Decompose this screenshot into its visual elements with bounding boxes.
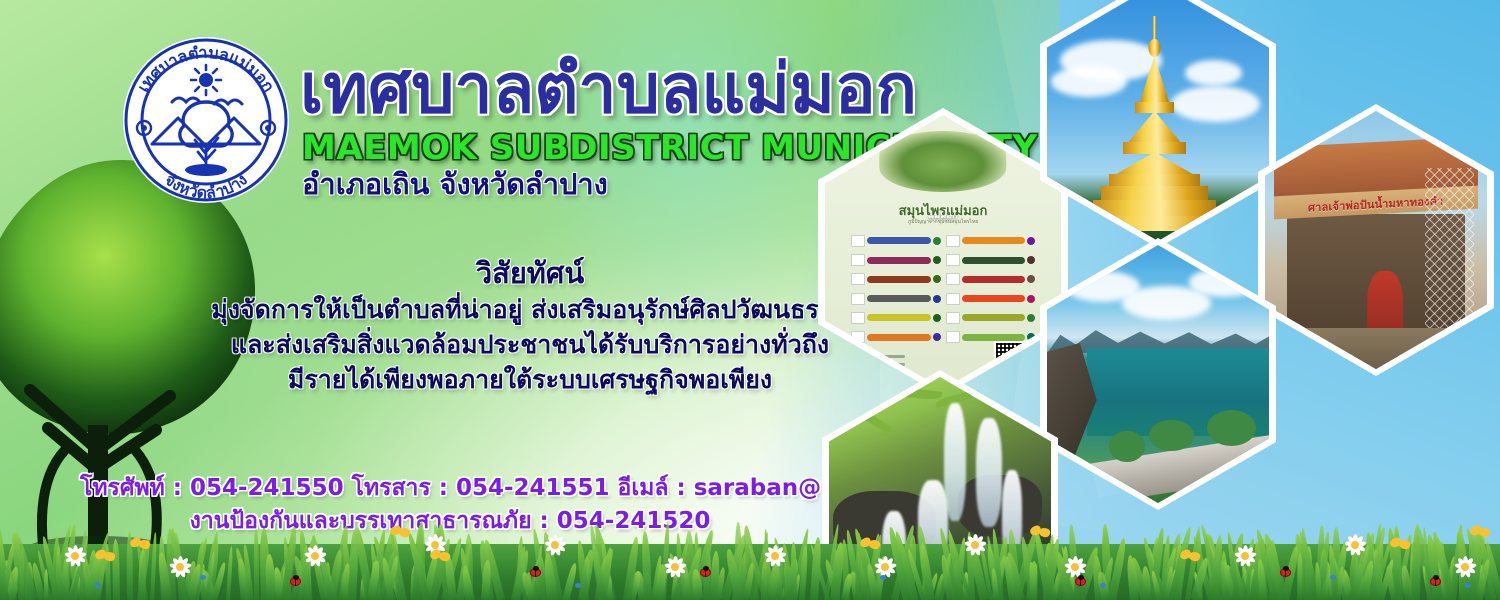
daisy-center — [771, 552, 779, 560]
butterfly-wing — [138, 539, 151, 551]
grass-footer-decoration — [0, 514, 1500, 600]
ladybug — [1075, 577, 1086, 586]
butterfly — [1470, 526, 1490, 540]
vision-block: วิสัยทัศน์ มุ่งจัดการให้เป็นตำบลที่น่าอย… — [180, 255, 880, 397]
page-title-thai: เทศบาลตำบลแม่มอก — [300, 56, 917, 124]
butterfly — [130, 538, 150, 552]
daisy-flower — [1340, 530, 1370, 560]
daisy-flower — [540, 530, 570, 560]
hex-inner: ศาลเจ้าพ่อปันน้ำมหาทองคำ — [1265, 111, 1487, 369]
vision-line-3: มีรายได้เพียงพอภายใต้ระบบเศรษฐกิจพอเพียง — [180, 362, 880, 397]
ladybug — [1280, 568, 1291, 577]
butterfly-wing — [1038, 527, 1051, 539]
butterfly-wing — [1398, 539, 1411, 551]
ladybug — [700, 568, 711, 577]
ladybug — [530, 568, 541, 577]
vision-line-1: มุ่งจัดการให้เป็นตำบลที่น่าอยู่ ส่งเสริม… — [180, 292, 880, 327]
butterfly-wing — [103, 551, 116, 563]
daisy-center — [1241, 552, 1249, 560]
blue-accent-dot — [1330, 575, 1336, 580]
butterfly — [860, 538, 880, 552]
poster-product-grid — [851, 233, 1035, 345]
daisy-center — [881, 563, 889, 571]
poster-subtitle: ภูมิปัญญาจากชุมชนสมุนไพรไทย — [825, 218, 1061, 226]
herbal-poster-image: แม่มอก สมุนไพรแม่มอก ภูมิปัญญาจากชุมชนสม… — [825, 115, 1061, 389]
ladybug — [1430, 577, 1441, 586]
butterfly-wing — [868, 539, 881, 551]
daisy-flower — [60, 541, 90, 571]
butterfly — [430, 550, 450, 564]
reservoir-dam-image — [1047, 245, 1269, 503]
vision-heading: วิสัยทัศน์ — [180, 255, 880, 292]
daisy-flower — [1450, 552, 1480, 582]
daisy-flower — [1060, 552, 1090, 582]
daisy-center — [1351, 541, 1359, 549]
daisy-flower — [960, 530, 990, 560]
municipality-banner: เทศบาลตำบลแม่มอก จังหวัดลำปาง เทศบาลตำบล… — [0, 0, 1500, 600]
chedi-shape — [1083, 16, 1233, 231]
blue-accent-dot — [200, 575, 206, 580]
municipality-logo: เทศบาลตำบลแม่มอก จังหวัดลำปาง — [122, 36, 290, 204]
hex-inner: แม่มอก สมุนไพรแม่มอก ภูมิปัญญาจากชุมชนสม… — [825, 115, 1061, 389]
contact-line-phone-fax-email[interactable]: โทรศัพท์ : 054-241550 โทรสาร : 054-24155… — [80, 472, 820, 505]
blue-accent-dot — [575, 583, 581, 588]
daisy-center — [551, 541, 559, 549]
blue-accent-dot — [1465, 583, 1471, 588]
daisy-center — [431, 541, 439, 549]
daisy-flower — [300, 541, 330, 571]
blue-accent-dot — [880, 575, 886, 580]
grass-blade — [254, 529, 259, 600]
vision-line-2: และส่งเสริมสิ่งแวดล้อมประชาชนได้รับบริกา… — [180, 327, 880, 362]
ladybug — [290, 577, 301, 586]
grass-blade — [1297, 553, 1302, 600]
daisy-flower — [760, 541, 790, 571]
daisy-center — [311, 552, 319, 560]
page-subtitle: อำเภอเถิน จังหวัดลำปาง — [302, 170, 608, 199]
daisy-center — [71, 552, 79, 560]
butterfly — [1030, 526, 1050, 540]
poster-logo-badge — [879, 131, 1006, 191]
daisy-flower — [165, 552, 195, 582]
daisy-center — [671, 563, 679, 571]
butterfly-wing — [1188, 551, 1201, 563]
daisy-center — [176, 563, 184, 571]
butterfly — [1180, 550, 1200, 564]
shrine-pavilion-image: ศาลเจ้าพ่อปันน้ำมหาทองคำ — [1265, 111, 1487, 369]
hex-inner — [1047, 245, 1269, 503]
daisy-flower — [660, 552, 690, 582]
butterfly-wing — [398, 527, 411, 539]
butterfly-wing — [438, 551, 451, 563]
daisy-center — [1461, 563, 1469, 571]
daisy-flower — [1230, 541, 1260, 571]
blue-accent-dot — [95, 583, 101, 588]
butterfly — [390, 526, 410, 540]
blue-accent-dot — [1100, 583, 1106, 588]
butterfly-wing — [1478, 527, 1491, 539]
daisy-center — [971, 541, 979, 549]
butterfly — [95, 550, 115, 564]
daisy-center — [1071, 563, 1079, 571]
butterfly — [1390, 538, 1410, 552]
